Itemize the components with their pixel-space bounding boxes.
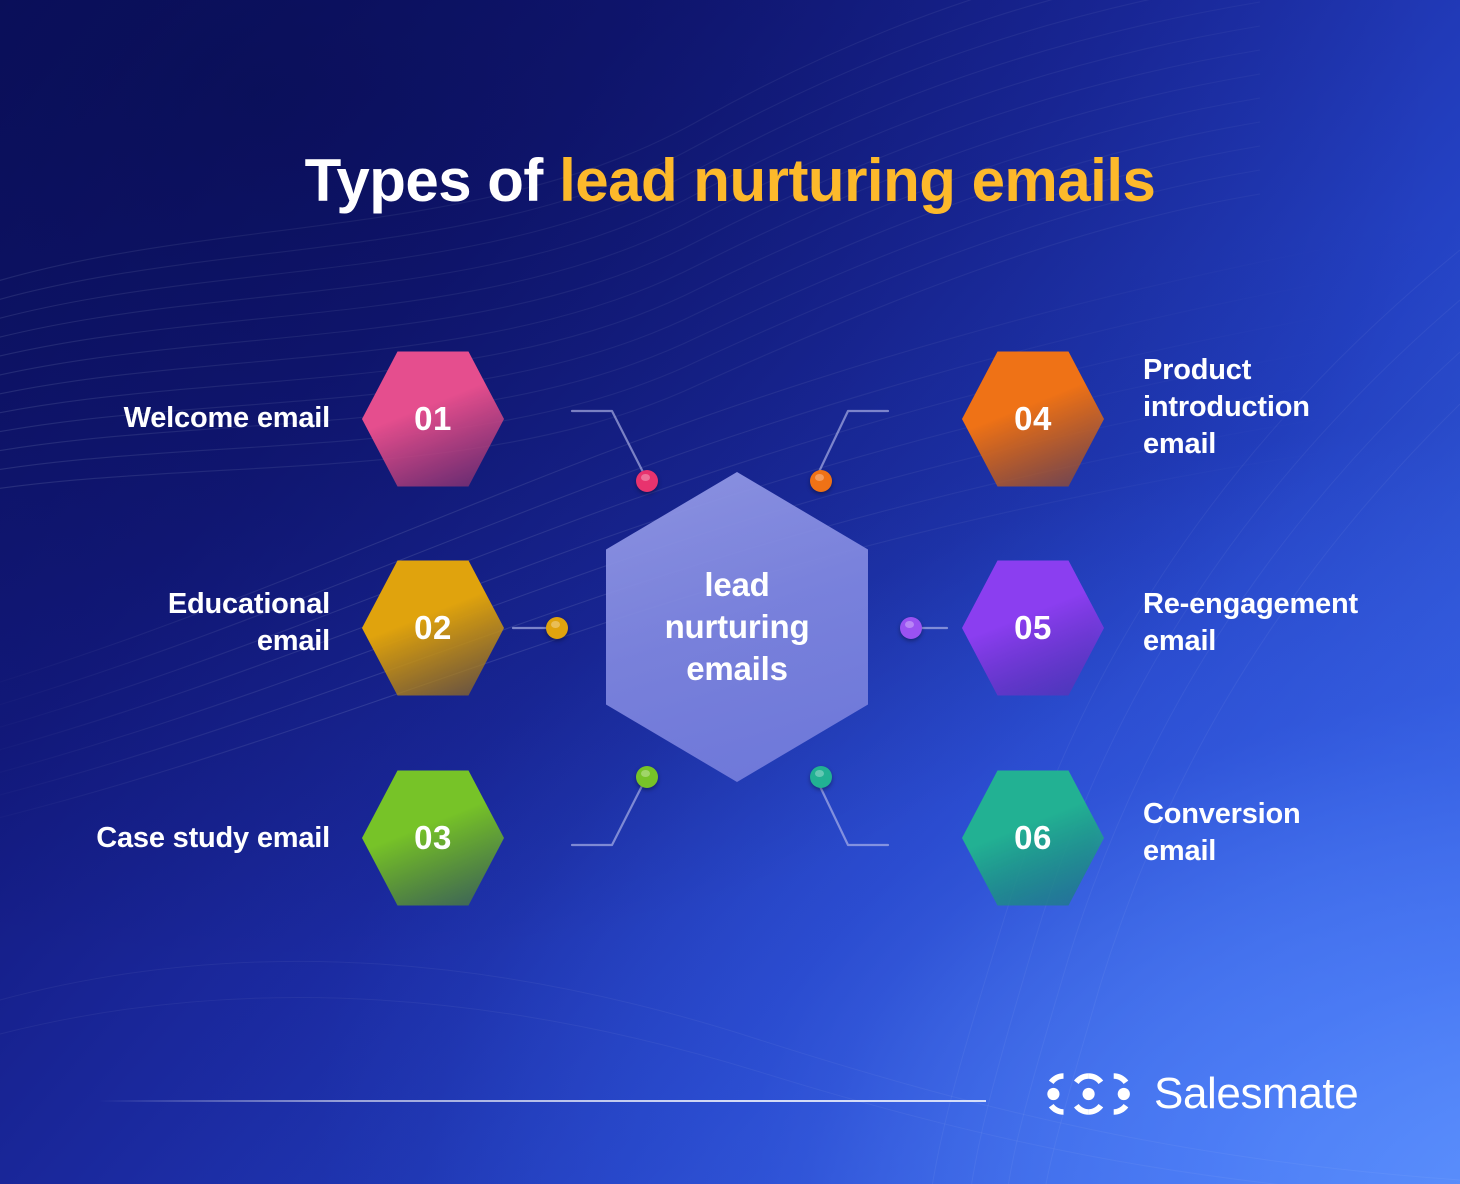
hexagon-node-02[interactable]: 02 [362,557,504,699]
hexagon-node-04[interactable]: 04 [962,348,1104,490]
node-label-04: Product introduction email [1143,352,1443,463]
vertex-dot-01 [636,470,658,492]
salesmate-logo-icon [1043,1069,1135,1119]
vertex-dot-02 [546,617,568,639]
node-label-02: Educational email [30,586,330,660]
hexagon-node-03[interactable]: 03 [362,767,504,909]
node-label-06: Conversion email [1143,796,1443,870]
brand-lockup: Salesmate [1043,1069,1358,1119]
hexagon-number-05: 05 [1014,609,1052,647]
center-hexagon-label: lead nurturing emails [665,564,810,691]
footer-divider [98,1100,986,1102]
hexagon-number-04: 04 [1014,400,1052,438]
vertex-dot-04 [810,470,832,492]
brand-name: Salesmate [1154,1069,1358,1119]
vertex-dot-05 [900,617,922,639]
hexagon-diagram: lead nurturing emails 01 02 03 04 05 06 … [0,0,1460,1184]
hexagon-number-03: 03 [414,819,452,857]
hexagon-node-01[interactable]: 01 [362,348,504,490]
infographic-canvas: Types of lead nurturing emails lead nurt… [0,0,1460,1184]
hexagon-number-01: 01 [414,400,452,438]
hexagon-node-06[interactable]: 06 [962,767,1104,909]
vertex-dot-03 [636,766,658,788]
hexagon-node-05[interactable]: 05 [962,557,1104,699]
node-label-01: Welcome email [30,400,330,437]
center-hexagon: lead nurturing emails [606,472,868,782]
hexagon-number-02: 02 [414,609,452,647]
vertex-dot-06 [810,766,832,788]
node-label-03: Case study email [30,820,330,857]
hexagon-number-06: 06 [1014,819,1052,857]
node-label-05: Re-engagement email [1143,586,1453,660]
